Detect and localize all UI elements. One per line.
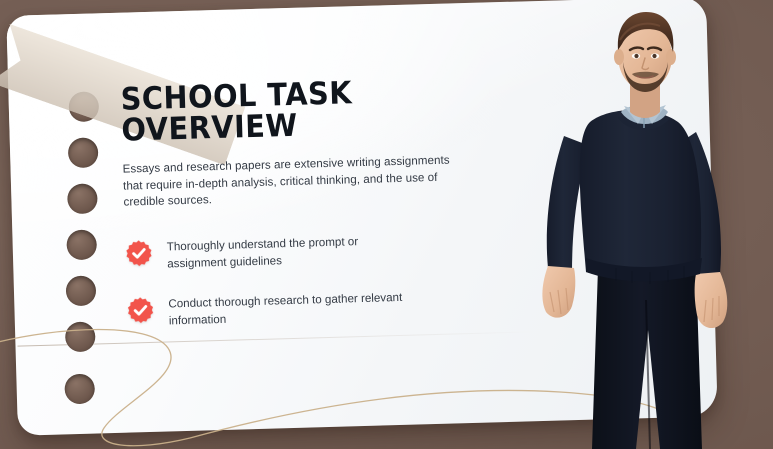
avatar (520, 0, 773, 449)
list-item-label: Thoroughly understand the prompt or assi… (167, 230, 418, 273)
punch-hole (66, 275, 97, 306)
slide-canvas: SCHOOL TASK OVERVIEW Essays and research… (0, 0, 773, 449)
avatar-head (614, 12, 676, 92)
card-content: SCHOOL TASK OVERVIEW Essays and research… (120, 75, 487, 354)
check-badge-icon (125, 239, 154, 268)
punch-hole (67, 183, 98, 214)
check-badge-icon (126, 296, 155, 325)
bullet-list: Thoroughly understand the prompt or assi… (125, 228, 487, 331)
list-item: Thoroughly understand the prompt or assi… (125, 228, 486, 274)
punch-hole (66, 229, 97, 260)
punch-hole (65, 322, 96, 353)
punch-hole (68, 137, 99, 168)
punch-hole (64, 374, 95, 405)
list-item-label: Conduct thorough research to gather rele… (168, 288, 419, 331)
avatar-trousers (592, 268, 702, 449)
page-title: SCHOOL TASK OVERVIEW (120, 75, 456, 146)
lead-paragraph: Essays and research papers are extensive… (122, 153, 453, 212)
title-line-2: OVERVIEW (121, 106, 457, 146)
list-item: Conduct thorough research to gather rele… (126, 286, 487, 332)
avatar-sweater (580, 110, 702, 284)
